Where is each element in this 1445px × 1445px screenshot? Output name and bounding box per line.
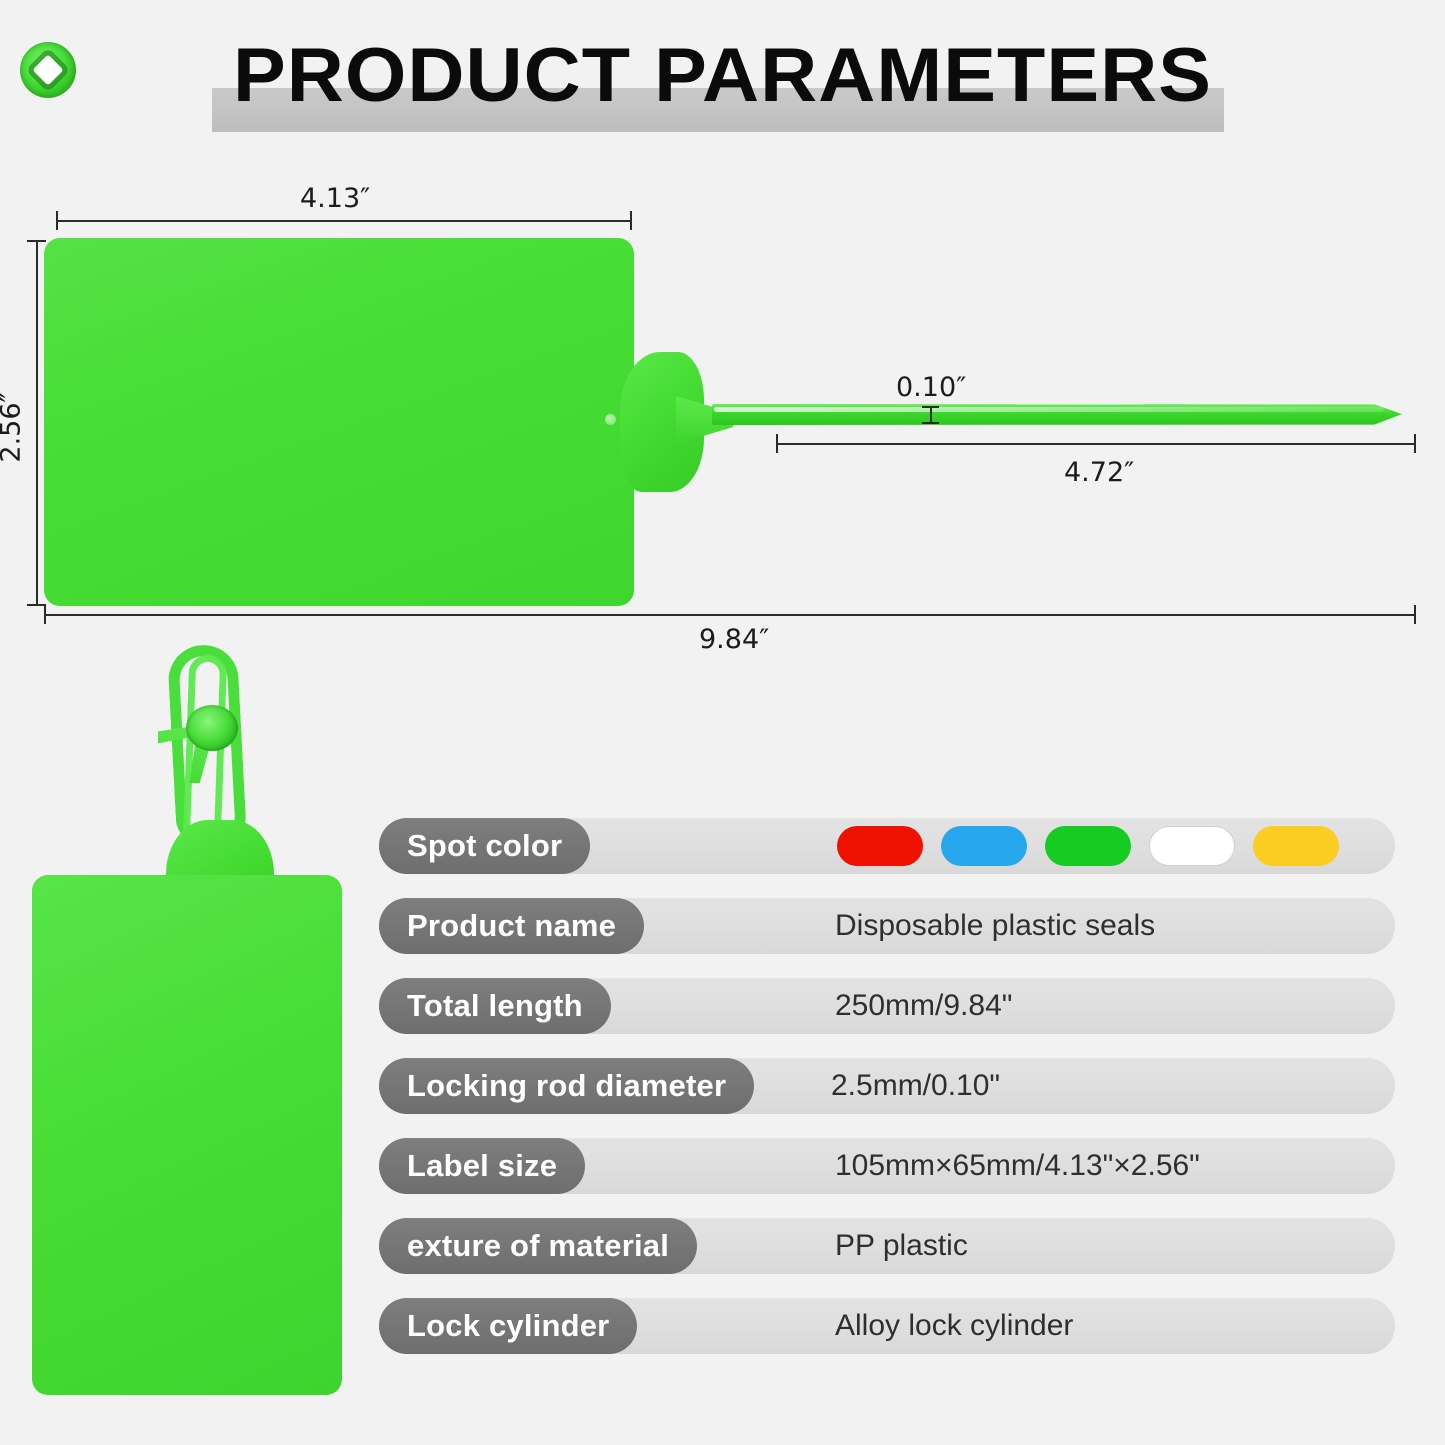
seal-strap-highlight <box>714 407 1384 412</box>
swatch-red[interactable] <box>837 826 923 866</box>
spec-label-lock-cylinder: Lock cylinder <box>379 1298 637 1354</box>
table-row: Lock cylinder Alloy lock cylinder <box>379 1298 1395 1354</box>
total-length-label: 9.84″ <box>699 624 769 655</box>
spec-value-total-length: 250mm/9.84" <box>835 978 1012 1034</box>
rod-diameter-tick-bottom <box>922 422 939 424</box>
width-dimension-label: 4.13″ <box>300 183 370 214</box>
strap-length-tick-left <box>776 434 778 453</box>
spot-color-swatches <box>837 818 1339 874</box>
seal-tag-body <box>44 238 634 606</box>
strap-length-dimension-line <box>776 443 1416 445</box>
lock-housing <box>620 352 718 492</box>
spec-value-product-name: Disposable plastic seals <box>835 898 1155 954</box>
spec-value-lock-cylinder: Alloy lock cylinder <box>835 1298 1073 1354</box>
spec-label-locking-rod-diameter: Locking rod diameter <box>379 1058 754 1114</box>
spec-value-texture-of-material: PP plastic <box>835 1218 968 1274</box>
strap-loop <box>150 645 280 895</box>
photo-lock-cylinder <box>186 705 238 751</box>
strap-length-tick-right <box>1414 434 1416 453</box>
product-parameters-page: PRODUCT PARAMETERS 4.13″ 2.56″ 0.10″ <box>0 0 1445 1445</box>
spec-label-texture-of-material: exture of material <box>379 1218 697 1274</box>
rod-diameter-label: 0.10″ <box>896 372 966 403</box>
page-title: PRODUCT PARAMETERS <box>0 38 1445 114</box>
swatch-green[interactable] <box>1045 826 1131 866</box>
table-row: Product name Disposable plastic seals <box>379 898 1395 954</box>
swatch-white[interactable] <box>1149 826 1235 866</box>
spec-table: Spot color Product name Disposable plast… <box>379 818 1395 1378</box>
photo-seal-tag-body <box>32 875 342 1395</box>
total-length-tick-left <box>44 605 46 624</box>
tag-dimple <box>605 414 616 425</box>
spec-label-spot-color: Spot color <box>379 818 590 874</box>
total-length-dimension-line <box>44 614 1416 616</box>
swatch-blue[interactable] <box>941 826 1027 866</box>
table-row: Label size 105mm×65mm/4.13"×2.56" <box>379 1138 1395 1194</box>
swatch-yellow[interactable] <box>1253 826 1339 866</box>
table-row: Total length 250mm/9.84" <box>379 978 1395 1034</box>
spec-value-locking-rod-diameter: 2.5mm/0.10" <box>831 1058 1000 1114</box>
height-dimension-label: 2.56″ <box>0 392 27 462</box>
table-row: exture of material PP plastic <box>379 1218 1395 1274</box>
width-dimension-line <box>56 220 632 222</box>
total-length-tick-right <box>1414 605 1416 624</box>
spec-value-label-size: 105mm×65mm/4.13"×2.56" <box>835 1138 1200 1194</box>
height-dimension-line <box>36 240 38 606</box>
table-row: Locking rod diameter 2.5mm/0.10" <box>379 1058 1395 1114</box>
table-row: Spot color <box>379 818 1395 874</box>
height-tick-top <box>27 240 46 242</box>
strap-length-label: 4.72″ <box>1064 457 1134 488</box>
width-tick-right <box>630 211 632 230</box>
spec-label-total-length: Total length <box>379 978 611 1034</box>
spec-label-label-size: Label size <box>379 1138 585 1194</box>
spec-label-product-name: Product name <box>379 898 644 954</box>
width-tick-left <box>56 211 58 230</box>
